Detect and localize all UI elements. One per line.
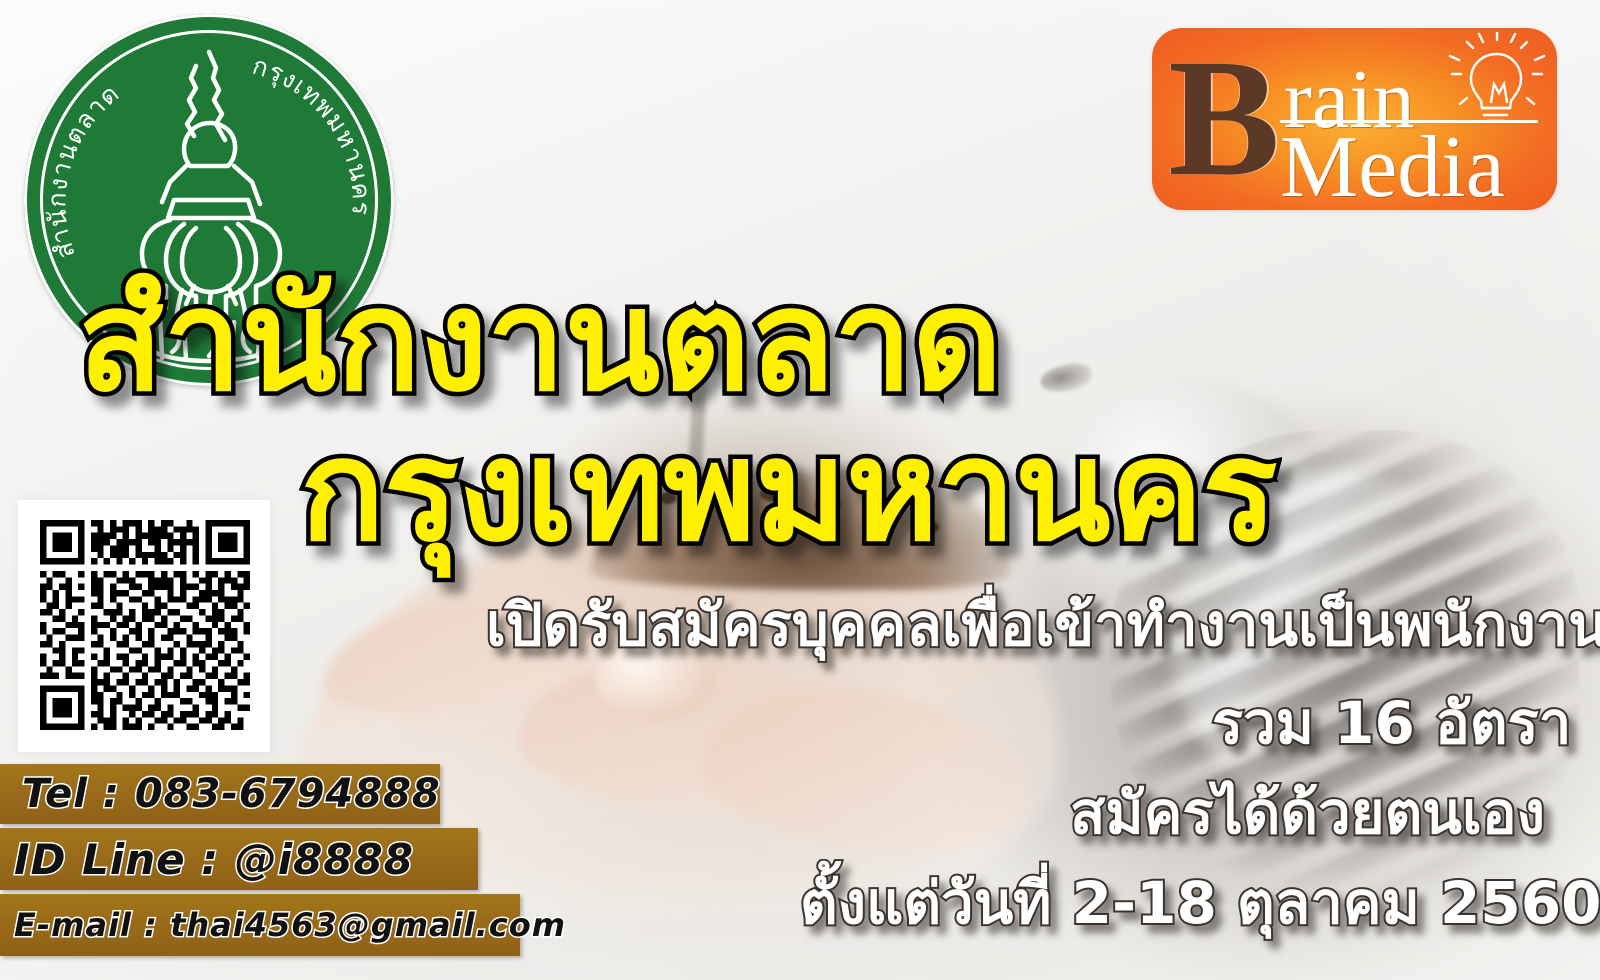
contact-bar-phone[interactable]: Tel : 083-6794888	[0, 764, 440, 824]
detail-line-dates: ตั้งแต่วันที่ 2-18 ตุลาคม 2560	[800, 856, 1600, 949]
qr-code[interactable]	[40, 520, 250, 730]
contact-line-id-label: ID Line : @i8888	[14, 835, 414, 884]
seal-text-right: กรุงเทพมหานคร	[249, 51, 376, 217]
contact-phone-label: Tel : 083-6794888	[22, 771, 441, 817]
lightbulb-icon	[1441, 32, 1551, 128]
recruitment-poster: สำนักงานตลาด กรุงเทพมหานคร	[0, 0, 1600, 980]
detail-line-recruiting: เปิดรับสมัครบุคคลเพื่อเข้าทำงานเป็นพนักง…	[486, 578, 1600, 671]
brain-media-logo[interactable]: B rain Media	[1152, 28, 1557, 210]
logo-word-media: Media	[1280, 124, 1505, 210]
qr-code-panel[interactable]	[18, 500, 270, 752]
detail-line-positions: รวม 16 อัตรา	[1212, 676, 1571, 769]
contact-email-label: E-mail : thai4563@gmail.com	[14, 906, 566, 944]
contact-bar-email[interactable]: E-mail : thai4563@gmail.com	[0, 894, 520, 956]
finger-shape	[516, 651, 853, 818]
logo-letter-b: B	[1168, 34, 1280, 202]
headline-line-2: กรุงเทพมหานคร	[300, 378, 1276, 601]
contact-bar-line-id[interactable]: ID Line : @i8888	[0, 828, 478, 890]
detail-line-apply-in-person: สมัครได้ด้วยตนเอง	[1070, 766, 1545, 859]
finger-shape	[691, 670, 1038, 869]
